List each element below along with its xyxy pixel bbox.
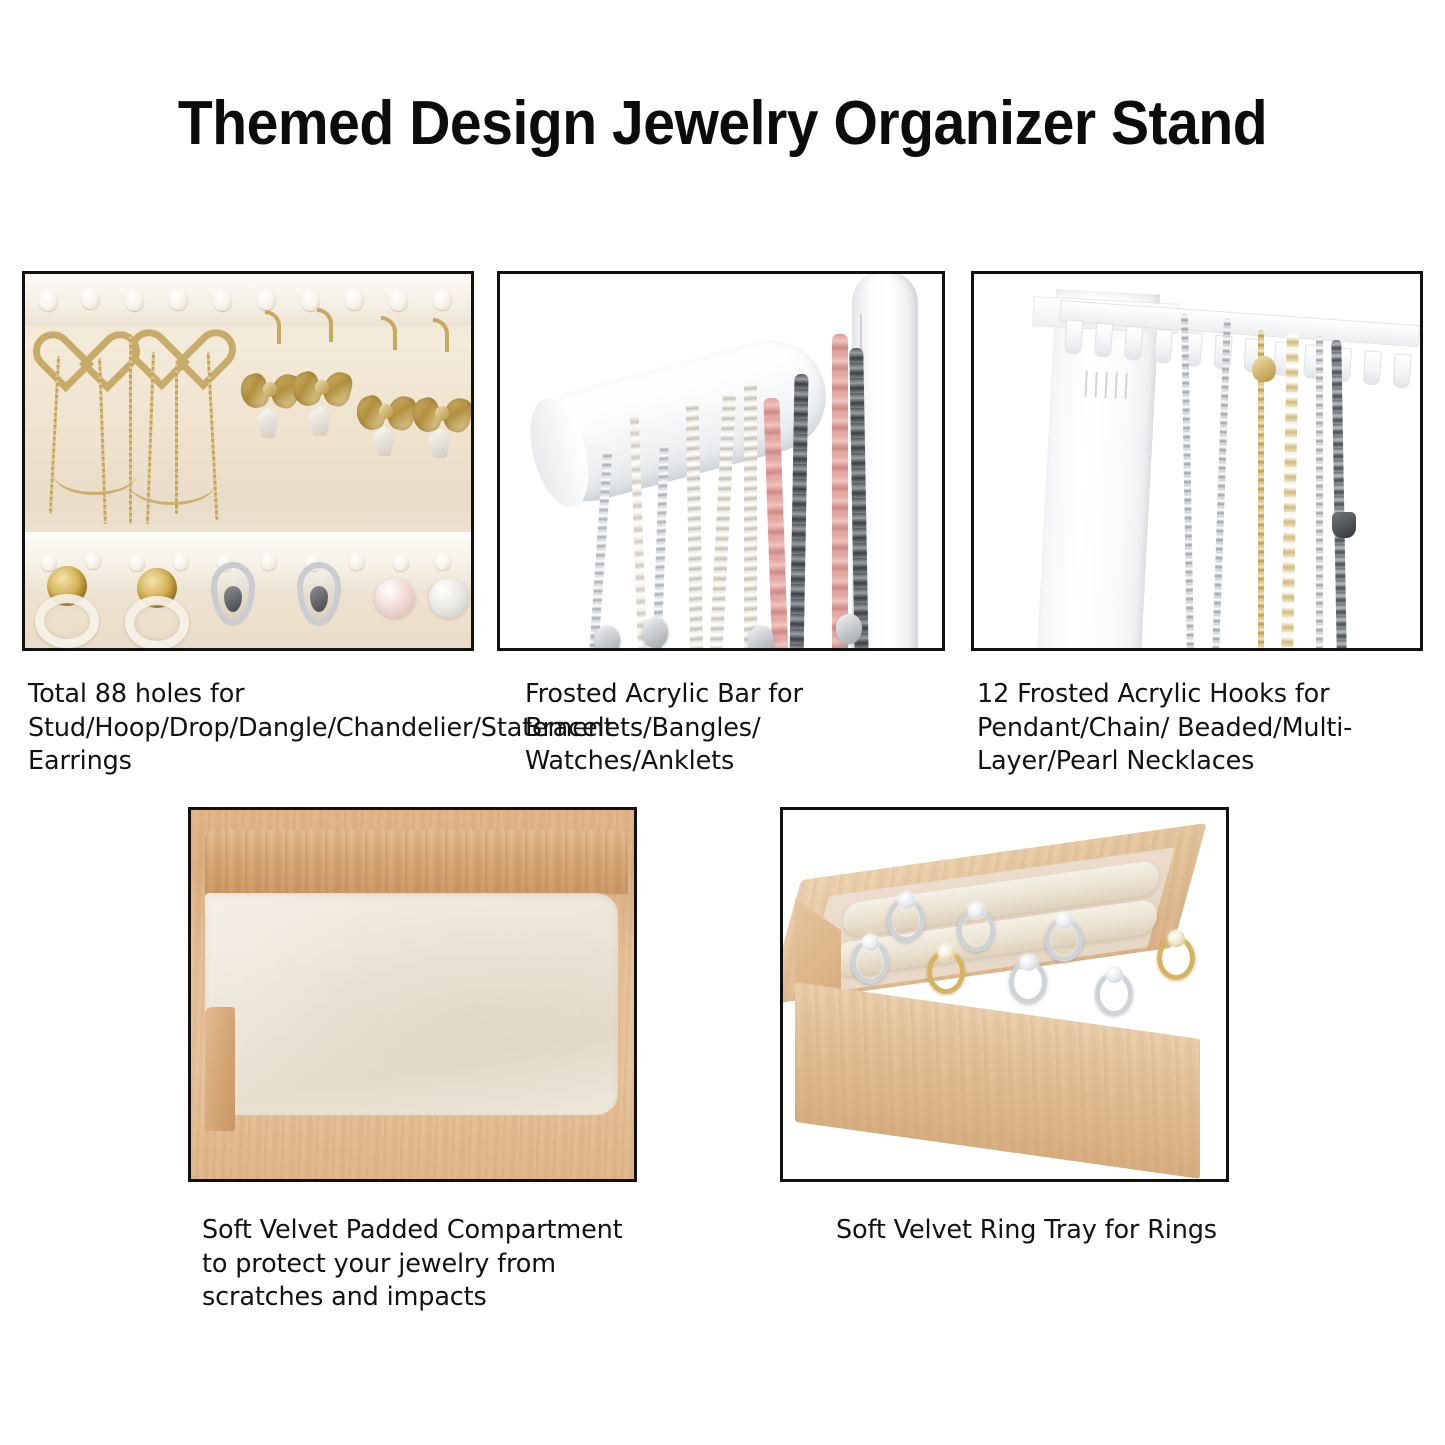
bow-earring [241, 372, 299, 410]
bracelet-bar-photo [500, 274, 942, 648]
ring-silver [851, 940, 889, 984]
necklace-dark-chain [1331, 340, 1346, 648]
ring-silver [957, 908, 995, 952]
feature-caption-earring-board: Total 88 holes for Stud/Hoop/Drop/Dangle… [28, 678, 498, 779]
feature-caption-bracelet-bar: Frosted Acrylic Bar for Bracelets/Bangle… [525, 678, 955, 779]
bracelet-charm [748, 626, 774, 648]
pearl-hoop-earring [35, 594, 99, 648]
round-stud-earring [429, 578, 469, 618]
bow-earring [413, 396, 471, 434]
bracelet-charm [594, 626, 620, 648]
round-stud-earring [375, 578, 415, 618]
acrylic-hook [1363, 350, 1382, 385]
feature-image-ring-tray [780, 807, 1229, 1182]
feature-caption-velvet-compartment: Soft Velvet Padded Compartment to protec… [202, 1214, 652, 1315]
necklace-pendant [1252, 356, 1276, 382]
wooden-ring-tray [795, 852, 1215, 1152]
earring-chain-swag [53, 452, 137, 495]
velvet-lining [205, 893, 618, 1115]
ring-silver [1045, 918, 1083, 962]
necklace-hooks-photo [974, 274, 1420, 648]
feature-image-bracelet-bar [497, 271, 945, 651]
ring-silver [1095, 972, 1133, 1016]
ring-tray-photo [783, 810, 1226, 1179]
acrylic-hook [1064, 319, 1083, 354]
acrylic-hook [1094, 323, 1113, 358]
ring-gold [927, 950, 965, 994]
acrylic-hook [1124, 326, 1143, 361]
feature-caption-necklace-hooks: 12 Frosted Acrylic Hooks for Pendant/Cha… [977, 678, 1432, 779]
ring-gold [1157, 936, 1195, 980]
necklace-pearl-beaded [1281, 332, 1299, 648]
necklace-silver-chain [1212, 318, 1231, 648]
bracelet-charm [836, 614, 862, 644]
wood-divider [205, 1007, 235, 1131]
ring-silver [887, 898, 925, 942]
bow-earring [293, 370, 351, 408]
bracelet-rose-quartz [832, 334, 848, 648]
frosted-acrylic-bar [520, 328, 839, 514]
wood-top-edge [205, 830, 628, 894]
necklace-charm-dark [1332, 512, 1356, 538]
earring-chain-swag [129, 462, 215, 505]
acrylic-hook [1154, 329, 1173, 364]
heart-hoop-earring-left [49, 306, 123, 372]
bow-earring [357, 394, 415, 432]
feature-image-earring-board [22, 271, 474, 651]
velvet-compartment-photo [191, 810, 634, 1179]
feature-image-velvet-compartment [188, 807, 637, 1182]
feature-image-necklace-hooks [971, 271, 1423, 651]
earring-chain [129, 336, 132, 524]
pearl-hoop-earring [125, 596, 189, 648]
ring-silver [1009, 960, 1047, 1004]
tray-front-face [795, 982, 1200, 1179]
bracelet-charm [642, 618, 668, 648]
necklace-silver-chain [1316, 336, 1323, 648]
feature-caption-ring-tray: Soft Velvet Ring Tray for Rings [836, 1214, 1256, 1248]
acrylic-hook [1392, 353, 1411, 388]
earring-board-photo [25, 274, 471, 648]
page-title: Themed Design Jewelry Organizer Stand [58, 88, 1387, 159]
bracelet-crystal [744, 382, 757, 648]
